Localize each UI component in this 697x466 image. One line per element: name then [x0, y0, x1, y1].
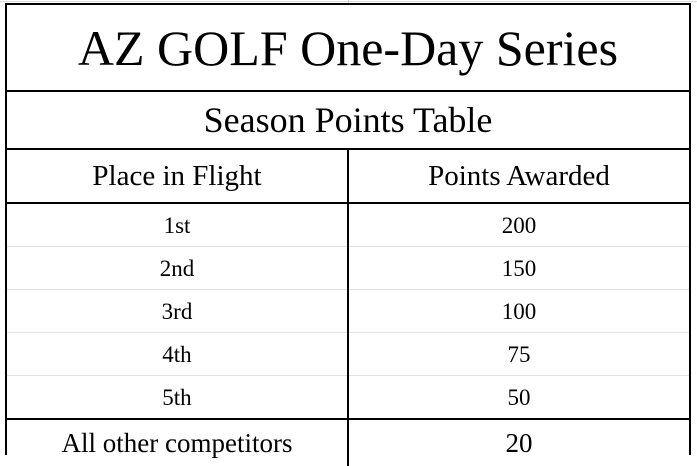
cell-place-value: 1st: [7, 214, 347, 237]
table-row: 3rd 100: [7, 290, 689, 333]
cell-place: All other competitors: [7, 419, 348, 466]
cell-points-value: 200: [349, 214, 689, 237]
cell-points: 100: [348, 290, 689, 333]
column-header-place-label: Place in Flight: [7, 162, 347, 191]
table-row-all-other-competitors: All other competitors 20: [7, 419, 689, 466]
cell-place-value: 4th: [7, 343, 347, 366]
column-header-place: Place in Flight: [7, 149, 348, 203]
cell-points-value: 50: [349, 386, 689, 409]
page-subtitle: Season Points Table: [7, 102, 689, 138]
page-title-cell: AZ GOLF One-Day Series: [7, 5, 689, 91]
cell-place: 3rd: [7, 290, 348, 333]
cell-points-value: 75: [349, 343, 689, 366]
table-row: 1st 200: [7, 203, 689, 247]
cell-place: 2nd: [7, 247, 348, 290]
cell-points-value: 100: [349, 300, 689, 323]
cell-place-value: 2nd: [7, 257, 347, 280]
title-row: AZ GOLF One-Day Series: [7, 5, 689, 91]
cell-place: 4th: [7, 333, 348, 376]
season-points-table-container: AZ GOLF One-Day Series Season Points Tab…: [5, 3, 691, 455]
table-row: 4th 75: [7, 333, 689, 376]
cell-place: 5th: [7, 376, 348, 420]
page-subtitle-cell: Season Points Table: [7, 91, 689, 149]
cell-points: 20: [348, 419, 689, 466]
season-points-table: AZ GOLF One-Day Series Season Points Tab…: [7, 5, 689, 466]
points-table-sheet: AZ GOLF One-Day Series Season Points Tab…: [0, 0, 697, 455]
cell-points-value: 20: [349, 430, 689, 457]
table-row: 5th 50: [7, 376, 689, 420]
table-header-row: Place in Flight Points Awarded: [7, 149, 689, 203]
column-header-points: Points Awarded: [348, 149, 689, 203]
column-header-points-label: Points Awarded: [349, 162, 689, 191]
cell-place-value: 3rd: [7, 300, 347, 323]
cell-place-value: 5th: [7, 386, 347, 409]
subtitle-row: Season Points Table: [7, 91, 689, 149]
cell-points: 50: [348, 376, 689, 420]
cell-place: 1st: [7, 203, 348, 247]
cell-points-value: 150: [349, 257, 689, 280]
cell-points: 75: [348, 333, 689, 376]
cell-place-value: All other competitors: [7, 430, 347, 457]
table-row: 2nd 150: [7, 247, 689, 290]
page-title: AZ GOLF One-Day Series: [7, 23, 689, 73]
cell-points: 150: [348, 247, 689, 290]
cell-points: 200: [348, 203, 689, 247]
